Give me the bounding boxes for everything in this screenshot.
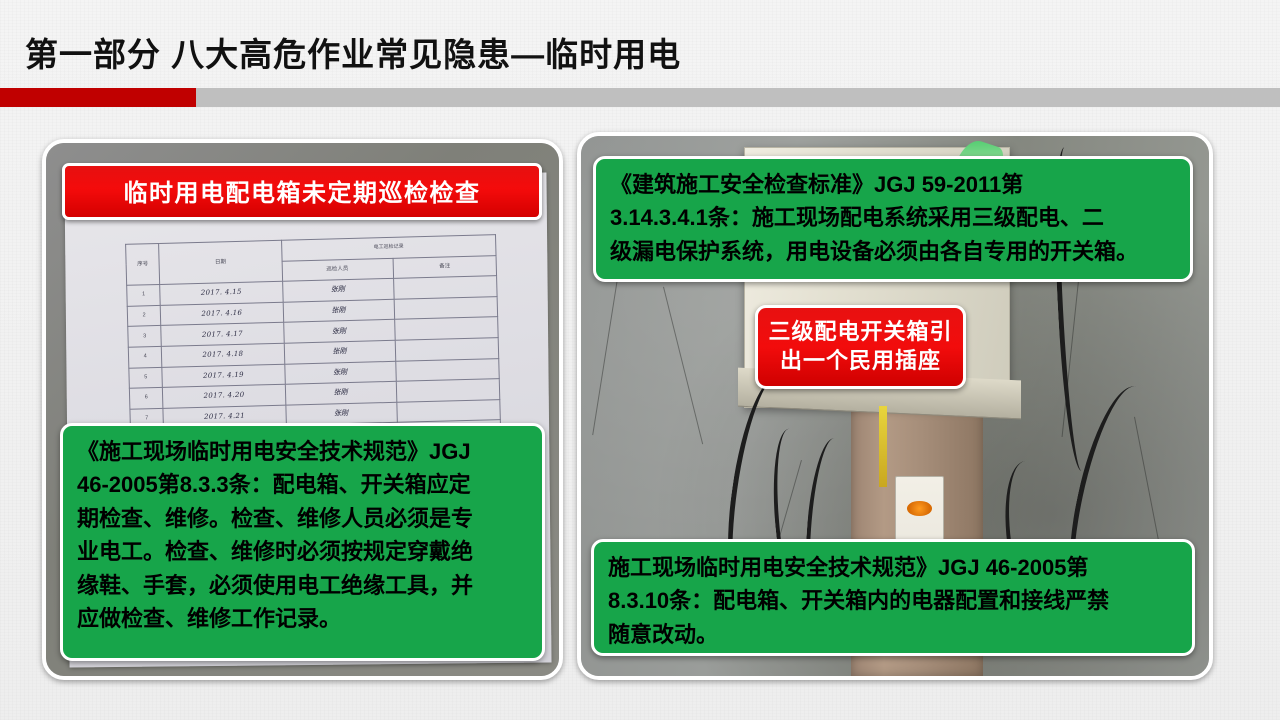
right-photo-panel[interactable]: 《建筑施工安全检查标准》JGJ 59-2011第3.14.3.4.1条：施工现场… <box>577 132 1213 680</box>
right-top-regulation-text: 《建筑施工安全检查标准》JGJ 59-2011第3.14.3.4.1条：施工现场… <box>610 168 1176 268</box>
left-regulation-line: 业电工。检查、维修时必须按规定穿戴绝 <box>77 535 528 568</box>
log-cell: 张刚 <box>285 402 397 425</box>
right-red-callout-line: 三级配电开关箱引 <box>764 317 957 346</box>
right-red-callout-line: 出一个民用插座 <box>764 346 957 375</box>
log-cell: 2017. 4.18 <box>161 343 284 367</box>
left-regulation-box: 《施工现场临时用电安全技术规范》JGJ46-2005第8.3.3条：配电箱、开关… <box>60 423 545 661</box>
wall-crack-icon <box>663 287 703 444</box>
log-cell <box>395 358 499 381</box>
log-cell: 3 <box>127 326 161 347</box>
log-cell: 1 <box>126 284 160 305</box>
log-cell <box>394 337 498 360</box>
log-cell: 2017. 4.16 <box>160 302 283 326</box>
log-col-header: 日期 <box>158 240 281 284</box>
right-bottom-regulation-line: 8.3.10条：配电箱、开关箱内的电器配置和接线严禁 <box>608 584 1178 617</box>
left-red-banner-label: 临时用电配电箱未定期巡检检查 <box>124 180 481 207</box>
socket-indicator-led-icon <box>907 501 931 516</box>
log-cell: 2017. 4.17 <box>160 322 283 346</box>
right-red-callout: 三级配电开关箱引出一个民用插座 <box>755 305 966 389</box>
left-regulation-line: 应做检查、维修工作记录。 <box>77 602 528 635</box>
log-cell: 6 <box>129 387 163 408</box>
log-cell: 张刚 <box>282 319 394 342</box>
right-top-regulation-line: 级漏电保护系统，用电设备必须由各自专用的开关箱。 <box>610 235 1176 268</box>
log-cell <box>393 296 497 319</box>
log-col-header: 巡检人员 <box>281 258 393 281</box>
left-regulation-line: 缘鞋、手套，必须使用电工绝缘工具，并 <box>77 569 528 602</box>
log-cell: 张刚 <box>281 278 393 301</box>
log-cell: 张刚 <box>282 299 394 322</box>
right-top-regulation-line: 《建筑施工安全检查标准》JGJ 59-2011第 <box>610 168 1176 201</box>
right-bottom-regulation-box: 施工现场临时用电安全技术规范》JGJ 46-2005第8.3.10条：配电箱、开… <box>591 539 1195 656</box>
log-cell <box>395 378 499 401</box>
right-red-callout-text: 三级配电开关箱引出一个民用插座 <box>764 317 957 375</box>
log-cell: 2017. 4.20 <box>162 384 285 408</box>
log-cell: 5 <box>128 367 162 388</box>
log-cell <box>393 317 497 340</box>
log-cell: 4 <box>127 346 161 367</box>
log-cell: 张刚 <box>283 340 395 363</box>
right-bottom-regulation-text: 施工现场临时用电安全技术规范》JGJ 46-2005第8.3.10条：配电箱、开… <box>608 551 1178 651</box>
left-regulation-line: 期检查、维修。检查、维修人员必须是专 <box>77 502 528 535</box>
log-cell: 2017. 4.15 <box>159 281 282 305</box>
right-bottom-regulation-line: 随意改动。 <box>608 618 1178 651</box>
left-panel-inner: 序号日期电工巡检记录巡检人员备注12017. 4.15张刚22017. 4.16… <box>46 143 559 676</box>
left-regulation-line: 46-2005第8.3.3条：配电箱、开关箱应定 <box>77 468 528 501</box>
left-photo-panel[interactable]: 序号日期电工巡检记录巡检人员备注12017. 4.15张刚22017. 4.16… <box>42 139 563 680</box>
right-top-regulation-line: 3.14.3.4.1条：施工现场配电系统采用三级配电、二 <box>610 201 1176 234</box>
left-red-banner: 临时用电配电箱未定期巡检检查 <box>62 163 542 220</box>
log-cell <box>396 399 500 422</box>
left-regulation-text: 《施工现场临时用电安全技术规范》JGJ46-2005第8.3.3条：配电箱、开关… <box>77 435 528 636</box>
log-cell: 2 <box>126 305 160 326</box>
yellow-ground-wire <box>879 406 887 487</box>
divider-bar-accent <box>0 88 196 107</box>
log-col-header: 序号 <box>125 243 159 285</box>
slide-canvas: 第一部分 八大高危作业常见隐患—临时用电 序号日期电工巡检记录巡检人员备注120… <box>0 0 1280 720</box>
log-cell: 张刚 <box>284 381 396 404</box>
slide-header: 第一部分 八大高危作业常见隐患—临时用电 <box>0 0 1280 86</box>
log-cell: 张刚 <box>283 361 395 384</box>
log-col-header: 备注 <box>392 255 496 278</box>
left-regulation-line: 《施工现场临时用电安全技术规范》JGJ <box>77 435 528 468</box>
log-cell: 2017. 4.19 <box>161 363 284 387</box>
right-bottom-regulation-line: 施工现场临时用电安全技术规范》JGJ 46-2005第 <box>608 551 1178 584</box>
page-title: 第一部分 八大高危作业常见隐患—临时用电 <box>25 28 681 76</box>
log-cell <box>392 276 496 299</box>
right-panel-inner: 《建筑施工安全检查标准》JGJ 59-2011第3.14.3.4.1条：施工现场… <box>581 136 1209 676</box>
right-top-regulation-box: 《建筑施工安全检查标准》JGJ 59-2011第3.14.3.4.1条：施工现场… <box>593 156 1193 282</box>
